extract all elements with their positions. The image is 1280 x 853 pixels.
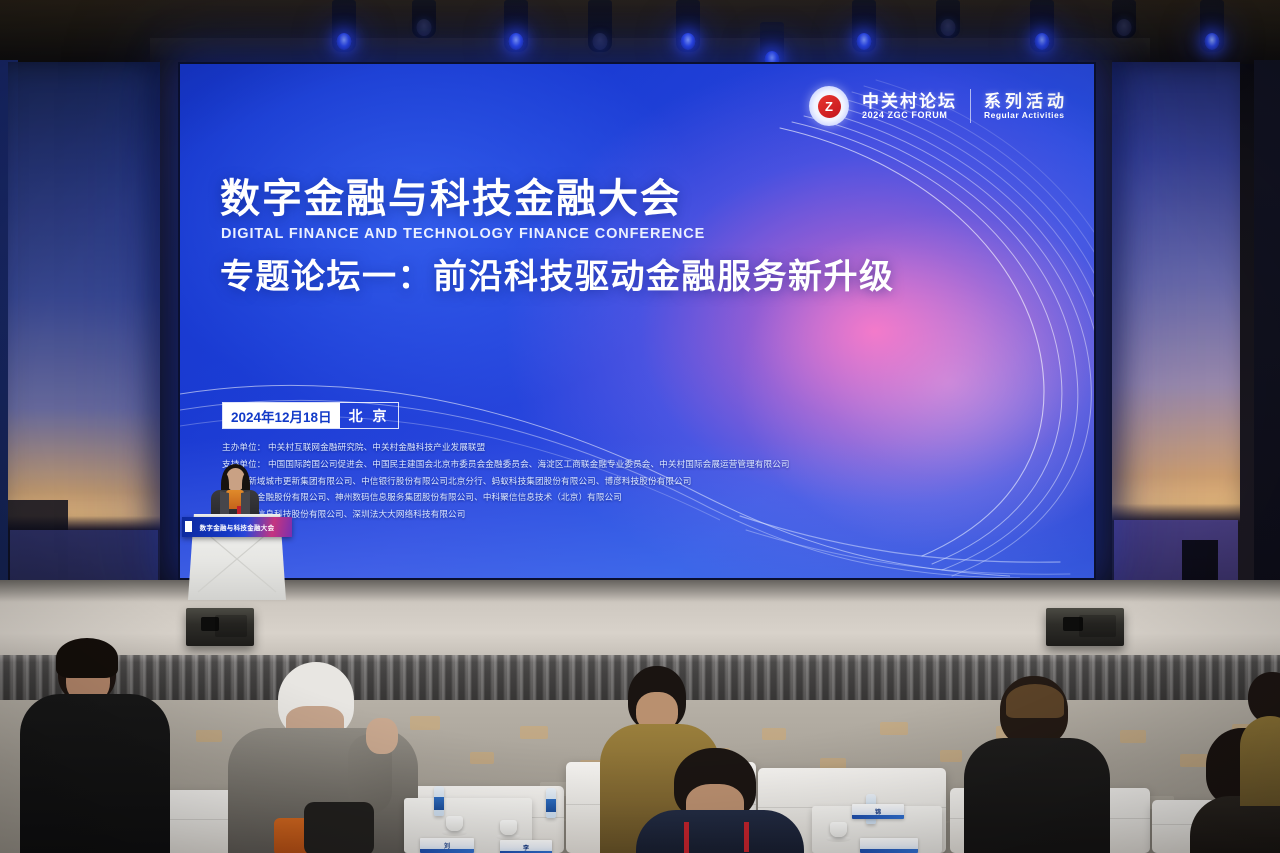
water-bottle[interactable] [434, 786, 444, 816]
logo-brand-en: 2024 ZGC FORUM [862, 111, 947, 120]
wall-panel-right-upper [1112, 62, 1240, 522]
credit-line: 支持单位： 中国国际跨国公司促进会、中国民主建国会北京市委员会金融委员会、海淀区… [222, 456, 922, 473]
credit-line: 马上消费金融股份有限公司、神州数码信息服务集团股份有限公司、中科聚信信息技术（北… [222, 489, 922, 506]
conference-stage-photo: Z 中关村论坛 2024 ZGC FORUM 系列活动 Regular Acti… [0, 0, 1280, 853]
logo-series-cn: 系列活动 [984, 93, 1068, 110]
date-location-badge: 2024年12月18日 北 京 [222, 402, 399, 429]
logo-divider [970, 89, 971, 123]
podium-banner-text: 数字金融与科技金融大会 [200, 522, 275, 532]
logo-brand-cn: 中关村论坛 [862, 93, 957, 110]
water-bottle[interactable] [546, 788, 556, 818]
emblem-letter: Z [825, 100, 833, 113]
stage-light-icon [676, 0, 700, 52]
forum-emblem-icon: Z [809, 86, 849, 126]
credit-line: 主办单位： 中关村互联网金融研究院、中关村金融科技产业发展联盟 [222, 439, 922, 456]
stage-light-icon [412, 0, 436, 38]
name-card: 锦 [852, 804, 904, 819]
stage-light-icon [332, 0, 356, 52]
credit-line: 上海合合信息科技股份有限公司、深圳法大大网络科技有限公司 [222, 506, 922, 523]
coffee-cup[interactable] [446, 816, 463, 831]
conference-title-en: DIGITAL FINANCE AND TECHNOLOGY FINANCE C… [221, 227, 705, 242]
name-card [860, 838, 918, 853]
stage-light-icon [1030, 0, 1054, 52]
stage-light-icon [852, 0, 876, 52]
organizer-credits: 主办单位： 中关村互联网金融研究院、中关村金融科技产业发展联盟 支持单位： 中国… [222, 439, 922, 523]
ceiling-truss [150, 38, 1150, 64]
podium-banner-tag [185, 521, 192, 532]
wall-panel-left-upper [8, 62, 160, 530]
logo-series-en: Regular Activities [984, 111, 1065, 120]
logo-series-block: 系列活动 Regular Activities [984, 93, 1068, 120]
stage-light-icon [504, 0, 528, 52]
stage-light-icon [936, 0, 960, 38]
stage-light-icon [1112, 0, 1136, 38]
name-card: 刘 [420, 838, 474, 853]
event-date: 2024年12月18日 [223, 403, 340, 428]
audience-member [1240, 672, 1280, 802]
stage-monitor-speaker [186, 608, 254, 646]
podium-banner: 数字金融与科技金融大会 [182, 517, 292, 537]
logo-brand-block: 中关村论坛 2024 ZGC FORUM [862, 93, 957, 120]
stage-monitor-speaker [1046, 608, 1124, 646]
coffee-cup[interactable] [500, 820, 517, 835]
coffee-cup[interactable] [830, 822, 847, 837]
zgc-forum-logo: Z 中关村论坛 2024 ZGC FORUM 系列活动 Regular Acti… [809, 86, 1068, 126]
name-card: 李 [500, 840, 552, 853]
event-city: 北 京 [340, 403, 399, 428]
wall-edge-right [1254, 60, 1280, 650]
audience-member [964, 676, 1110, 853]
audience-member [636, 748, 804, 853]
stage-light-icon [1200, 0, 1224, 52]
conference-title-cn: 数字金融与科技金融大会 [220, 179, 682, 219]
led-screen-content: Z 中关村论坛 2024 ZGC FORUM 系列活动 Regular Acti… [180, 64, 1094, 578]
led-screen: Z 中关村论坛 2024 ZGC FORUM 系列活动 Regular Acti… [178, 62, 1096, 580]
stage-light-icon [588, 0, 612, 52]
audience-member [228, 662, 418, 853]
audience-member [20, 640, 170, 853]
forum-subtitle-cn: 专题论坛一：前沿科技驱动金融服务新升级 [220, 260, 895, 294]
credit-line: 北京海新域城市更新集团有限公司、中信银行股份有限公司北京分行、蚂蚁科技集团股份有… [222, 473, 922, 490]
